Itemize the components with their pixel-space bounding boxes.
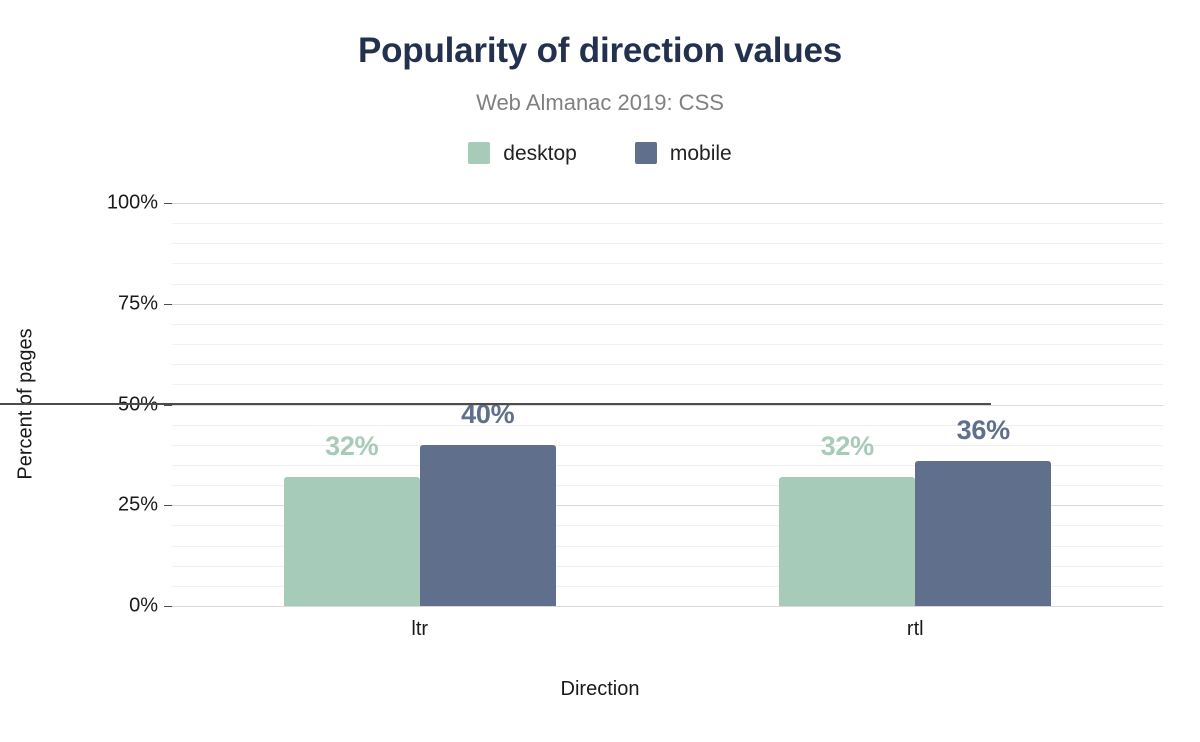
gridline-minor	[172, 384, 1163, 385]
bar-value-label-rtl-desktop: 32%	[821, 431, 874, 462]
legend-item-desktop[interactable]: desktop	[468, 142, 577, 164]
gridline-minor	[172, 243, 1163, 244]
gridline-minor	[172, 344, 1163, 345]
legend-swatch-desktop	[468, 142, 490, 164]
gridline-minor	[172, 425, 1163, 426]
chart-subtitle: Web Almanac 2019: CSS	[0, 90, 1200, 116]
legend-label-desktop: desktop	[503, 143, 577, 164]
y-tick-label: 0%	[129, 595, 158, 618]
legend-label-mobile: mobile	[670, 143, 732, 164]
legend-item-mobile[interactable]: mobile	[635, 142, 732, 164]
gridline-minor	[172, 445, 1163, 446]
y-tick-mark	[164, 203, 172, 204]
y-tick-mark	[164, 606, 172, 607]
chart-title: Popularity of direction values	[0, 32, 1200, 71]
y-tick-mark	[164, 405, 172, 406]
bar-ltr-desktop[interactable]	[284, 477, 420, 606]
y-tick-label: 100%	[107, 192, 158, 215]
bar-value-label-ltr-desktop: 32%	[325, 431, 378, 462]
x-axis-title: Direction	[0, 678, 1200, 701]
y-tick-mark	[164, 304, 172, 305]
bar-rtl-desktop[interactable]	[779, 477, 915, 606]
gridline-major	[172, 304, 1163, 305]
x-tick-label-ltr: ltr	[411, 618, 428, 641]
gridline-minor	[172, 263, 1163, 264]
gridline-major	[172, 203, 1163, 204]
gridline-minor	[172, 324, 1163, 325]
y-tick-label: 25%	[118, 494, 158, 517]
gridline-minor	[172, 284, 1163, 285]
gridline-minor	[172, 364, 1163, 365]
bar-rtl-mobile[interactable]	[915, 461, 1051, 606]
bar-value-label-rtl-mobile: 36%	[957, 415, 1010, 446]
gridline-minor	[172, 223, 1163, 224]
gridline-major	[172, 606, 1163, 607]
x-axis-line	[0, 403, 991, 405]
y-tick-mark	[164, 505, 172, 506]
chart-legend: desktop mobile	[0, 142, 1200, 164]
legend-swatch-mobile	[635, 142, 657, 164]
x-tick-label-rtl: rtl	[907, 618, 924, 641]
y-tick-label: 75%	[118, 292, 158, 315]
bar-ltr-mobile[interactable]	[420, 445, 556, 606]
